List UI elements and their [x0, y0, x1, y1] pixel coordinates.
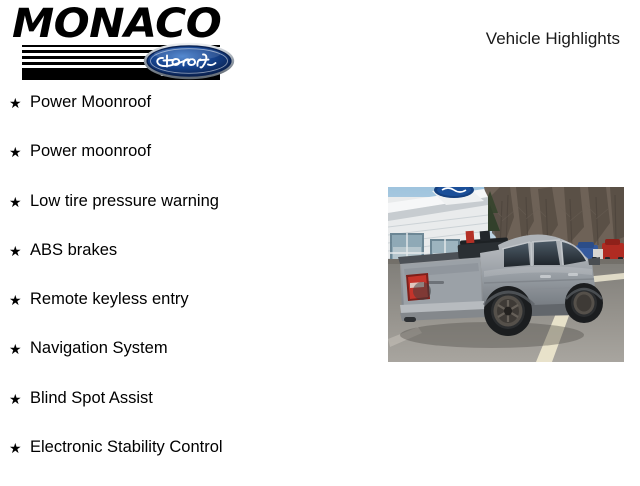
star-bullet-icon: ★ — [9, 339, 22, 359]
list-item-label: Power Moonroof — [30, 92, 151, 112]
list-item: ★ Remote keyless entry — [0, 289, 370, 338]
list-item: ★ Power moonroof — [0, 141, 370, 190]
list-item-label: Remote keyless entry — [30, 289, 189, 309]
ford-oval-icon — [143, 42, 235, 80]
vehicle-highlights-list: ★ Power Moonroof ★ Power moonroof ★ Low … — [0, 92, 370, 486]
list-item-label: Low tire pressure warning — [30, 191, 219, 211]
list-item: ★ ABS brakes — [0, 240, 370, 289]
star-bullet-icon: ★ — [9, 438, 22, 458]
list-item-label: ABS brakes — [30, 240, 117, 260]
list-item: ★ Navigation System — [0, 338, 370, 387]
list-item: ★ Low tire pressure warning — [0, 191, 370, 240]
list-item-label: Power moonroof — [30, 141, 151, 161]
list-item: ★ Blind Spot Assist — [0, 388, 370, 437]
list-item-label: Blind Spot Assist — [30, 388, 153, 408]
list-item: ★ Electronic Stability Control — [0, 437, 370, 486]
star-bullet-icon: ★ — [9, 389, 22, 409]
star-bullet-icon: ★ — [9, 192, 22, 212]
star-bullet-icon: ★ — [9, 142, 22, 162]
list-item-label: Electronic Stability Control — [30, 437, 223, 457]
dealer-wordmark: MONACO — [12, 4, 247, 44]
list-item: ★ Power Moonroof — [0, 92, 370, 141]
list-item-label: Navigation System — [30, 338, 168, 358]
dealer-logo: MONACO SINCE 1922 — [10, 4, 235, 84]
page-header: MONACO SINCE 1922 — [0, 0, 640, 90]
vehicle-photo — [388, 187, 624, 362]
star-bullet-icon: ★ — [9, 290, 22, 310]
star-bullet-icon: ★ — [9, 241, 22, 261]
page-title: Vehicle Highlights — [486, 28, 620, 50]
star-bullet-icon: ★ — [9, 93, 22, 113]
